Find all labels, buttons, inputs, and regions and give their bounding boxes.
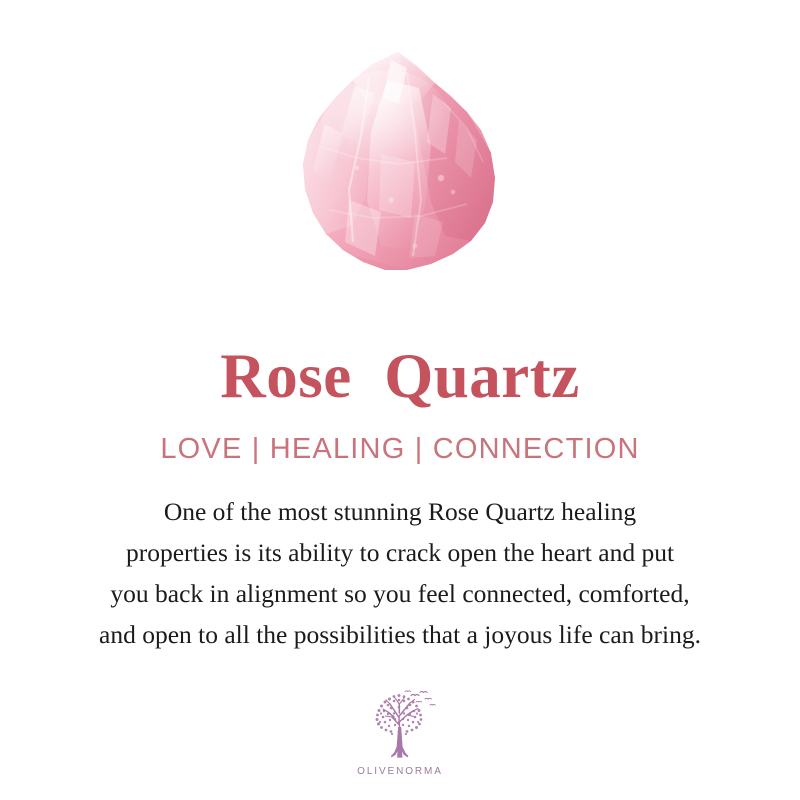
page-title: Rose Quartz (220, 344, 579, 408)
brand-logo: OLIVENORMA (357, 689, 443, 777)
description-line: properties is its ability to crack open … (30, 532, 770, 573)
tree-logo-icon (361, 689, 439, 763)
keyword-subtitle: LOVE | HEALING | CONNECTION (160, 433, 639, 466)
brand-wordmark: OLIVENORMA (357, 766, 443, 777)
rose-quartz-infographic-card: Rose Quartz LOVE | HEALING | CONNECTION … (0, 0, 800, 800)
description-line: One of the most stunning Rose Quartz hea… (30, 491, 770, 532)
description-line: and open to all the possibilities that a… (30, 614, 770, 655)
description-paragraph: One of the most stunning Rose Quartz hea… (30, 491, 770, 655)
rose-quartz-crystal-icon (295, 50, 505, 278)
rose-quartz-crystal-image (295, 50, 505, 278)
hero-image-area (0, 0, 800, 300)
description-line: you back in alignment so you feel connec… (30, 573, 770, 614)
